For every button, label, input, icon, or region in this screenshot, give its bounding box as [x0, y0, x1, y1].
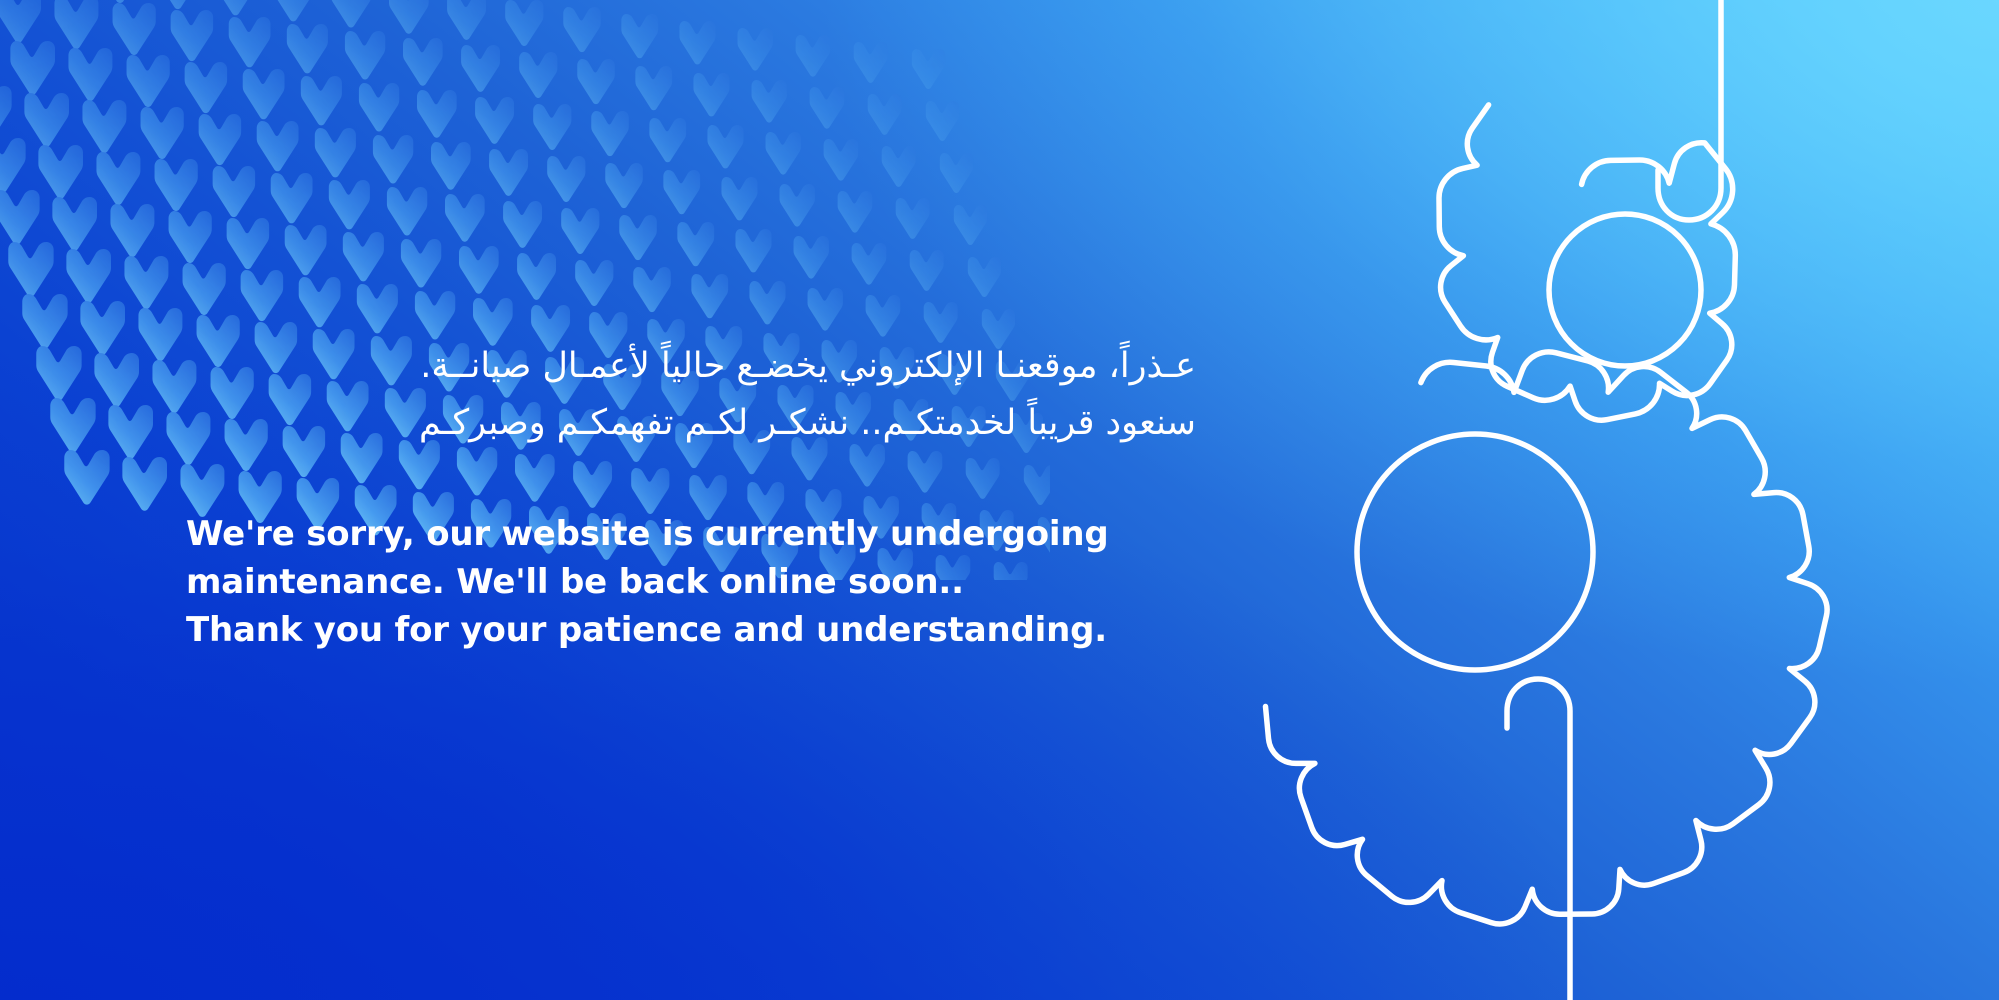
english-line-2: maintenance. We'll be back online soon..: [186, 559, 1196, 607]
english-line-3: Thank you for your patience and understa…: [186, 607, 1196, 655]
arabic-line-1: عـذراً، موقعنـا الإلكتروني يخضـع حالياً …: [186, 338, 1196, 395]
maintenance-page: عـذراً، موقعنـا الإلكتروني يخضـع حالياً …: [0, 0, 1999, 1000]
arabic-message: عـذراً، موقعنـا الإلكتروني يخضـع حالياً …: [186, 338, 1196, 451]
arabic-line-2: سنعود قريباً لخدمتكـم.. نشكـر لكـم تفهمك…: [186, 395, 1196, 452]
english-line-1: We're sorry, our website is currently un…: [186, 511, 1196, 559]
maintenance-message: عـذراً، موقعنـا الإلكتروني يخضـع حالياً …: [186, 338, 1196, 655]
english-message: We're sorry, our website is currently un…: [186, 511, 1196, 655]
